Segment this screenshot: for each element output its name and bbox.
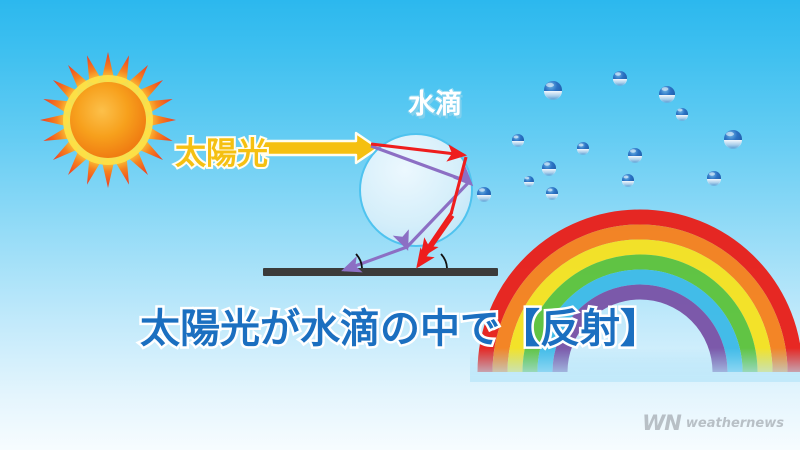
- sun-core: [70, 82, 146, 158]
- floating-droplets: [477, 71, 742, 202]
- droplet: [676, 108, 688, 121]
- droplet: [613, 71, 627, 86]
- weathernews-logo: WN weathernews: [642, 413, 784, 434]
- sunlight-arrow: [262, 133, 378, 163]
- sun-icon: [40, 52, 176, 188]
- droplet: [524, 176, 534, 187]
- droplet: [542, 161, 556, 176]
- droplet: [622, 174, 634, 187]
- droplet: [546, 187, 558, 200]
- droplet: [628, 148, 642, 163]
- wn-mark: WN: [642, 413, 681, 434]
- droplet: [659, 86, 675, 103]
- droplet: [512, 134, 524, 147]
- droplet: [707, 171, 721, 186]
- headline-caption: 太陽光が水滴の中で【反射】: [0, 296, 800, 354]
- infographic-canvas: 太陽光 水滴 太陽光が水滴の中で【反射】 WN weathernews: [0, 0, 800, 450]
- artwork-layer: [0, 0, 800, 450]
- droplet: [477, 187, 491, 202]
- wn-wordmark: weathernews: [686, 417, 784, 430]
- sunlight-label: 太陽光: [175, 128, 268, 173]
- ground-bar: [263, 268, 498, 276]
- droplet: [577, 142, 589, 155]
- droplet: [724, 130, 742, 149]
- droplet: [544, 81, 562, 100]
- droplet-label: 水滴: [408, 82, 462, 121]
